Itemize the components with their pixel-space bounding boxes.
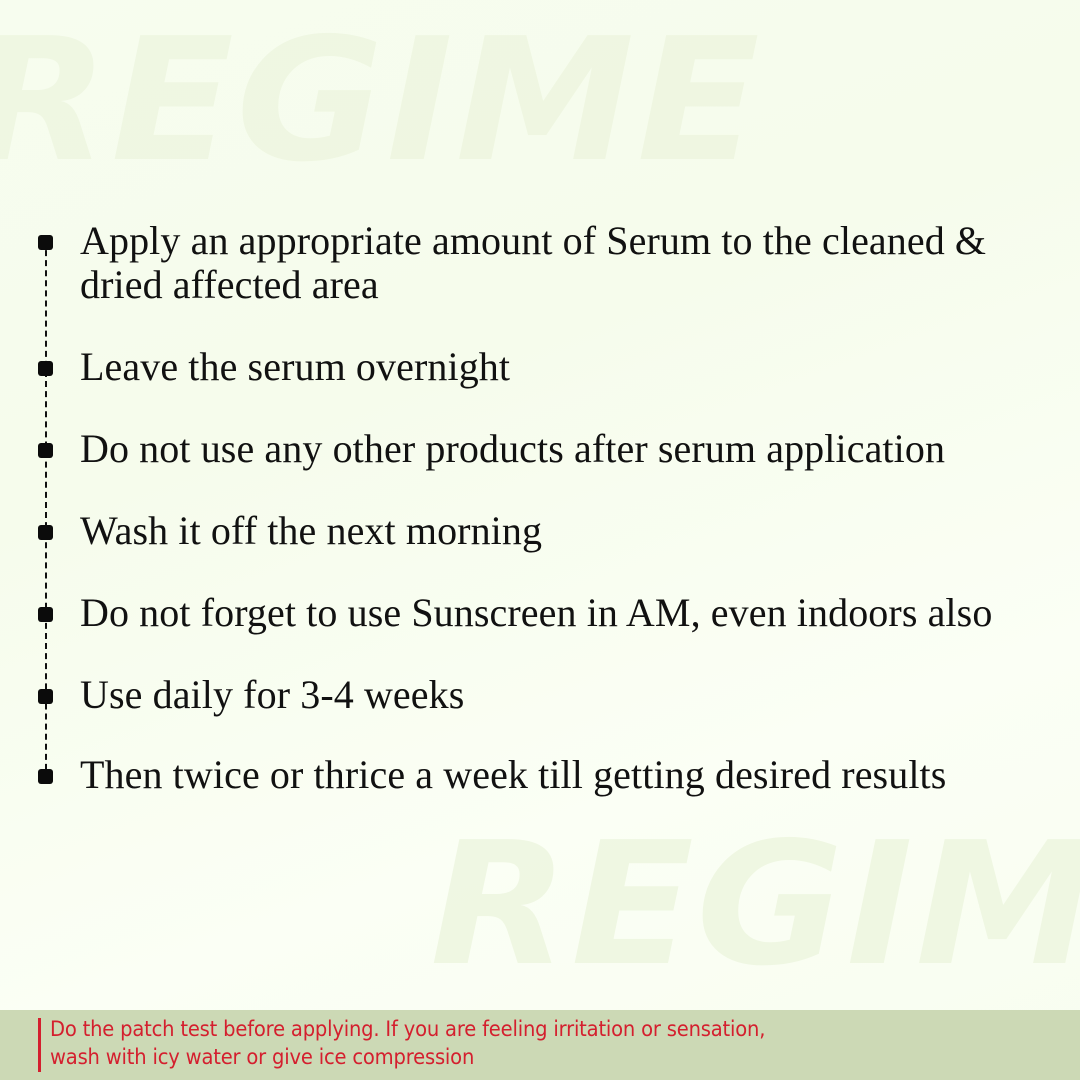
warning-text-line-2: wash with icy water or give ice compress…	[50, 1044, 924, 1072]
list-item: Do not use any other products after seru…	[0, 427, 1040, 471]
warning-text: Do the patch test before applying. If yo…	[50, 1016, 924, 1071]
bullet-marker-wrap	[0, 219, 80, 250]
warning-footer-bar: Do the patch test before applying. If yo…	[0, 1010, 1080, 1080]
square-bullet-icon	[38, 361, 53, 376]
watermark-top-regime: REGIME	[0, 16, 762, 186]
list-item: Then twice or thrice a week till getting…	[0, 753, 1040, 797]
step-text: Do not forget to use Sunscreen in AM, ev…	[80, 591, 1040, 635]
list-item: Apply an appropriate amount of Serum to …	[0, 219, 1040, 306]
bullet-marker-wrap	[0, 753, 80, 784]
square-bullet-icon	[38, 607, 53, 622]
bullet-marker-wrap	[0, 591, 80, 622]
bullet-marker-wrap	[0, 345, 80, 376]
step-text: Wash it off the next morning	[80, 509, 1040, 553]
step-text: Leave the serum overnight	[80, 345, 1040, 389]
square-bullet-icon	[38, 689, 53, 704]
step-text: Do not use any other products after seru…	[80, 427, 1040, 471]
warning-text-line-1: Do the patch test before applying. If yo…	[50, 1016, 924, 1044]
list-item: Leave the serum overnight	[0, 345, 1040, 389]
watermark-bottom-regime: REGIME	[430, 820, 1080, 990]
square-bullet-icon	[38, 235, 53, 250]
bullet-marker-wrap	[0, 509, 80, 540]
step-text: Then twice or thrice a week till getting…	[80, 753, 1040, 797]
list-item: Do not forget to use Sunscreen in AM, ev…	[0, 591, 1040, 635]
square-bullet-icon	[38, 443, 53, 458]
step-text: Apply an appropriate amount of Serum to …	[80, 219, 1040, 306]
square-bullet-icon	[38, 525, 53, 540]
instruction-poster: REGIME REGIME Apply an appropriate amoun…	[0, 0, 1080, 1080]
bullet-marker-wrap	[0, 427, 80, 458]
bullet-marker-wrap	[0, 673, 80, 704]
step-text: Use daily for 3-4 weeks	[80, 673, 1040, 717]
footer-accent-bar	[38, 1018, 41, 1072]
square-bullet-icon	[38, 769, 53, 784]
list-item: Wash it off the next morning	[0, 509, 1040, 553]
list-item: Use daily for 3-4 weeks	[0, 673, 1040, 717]
